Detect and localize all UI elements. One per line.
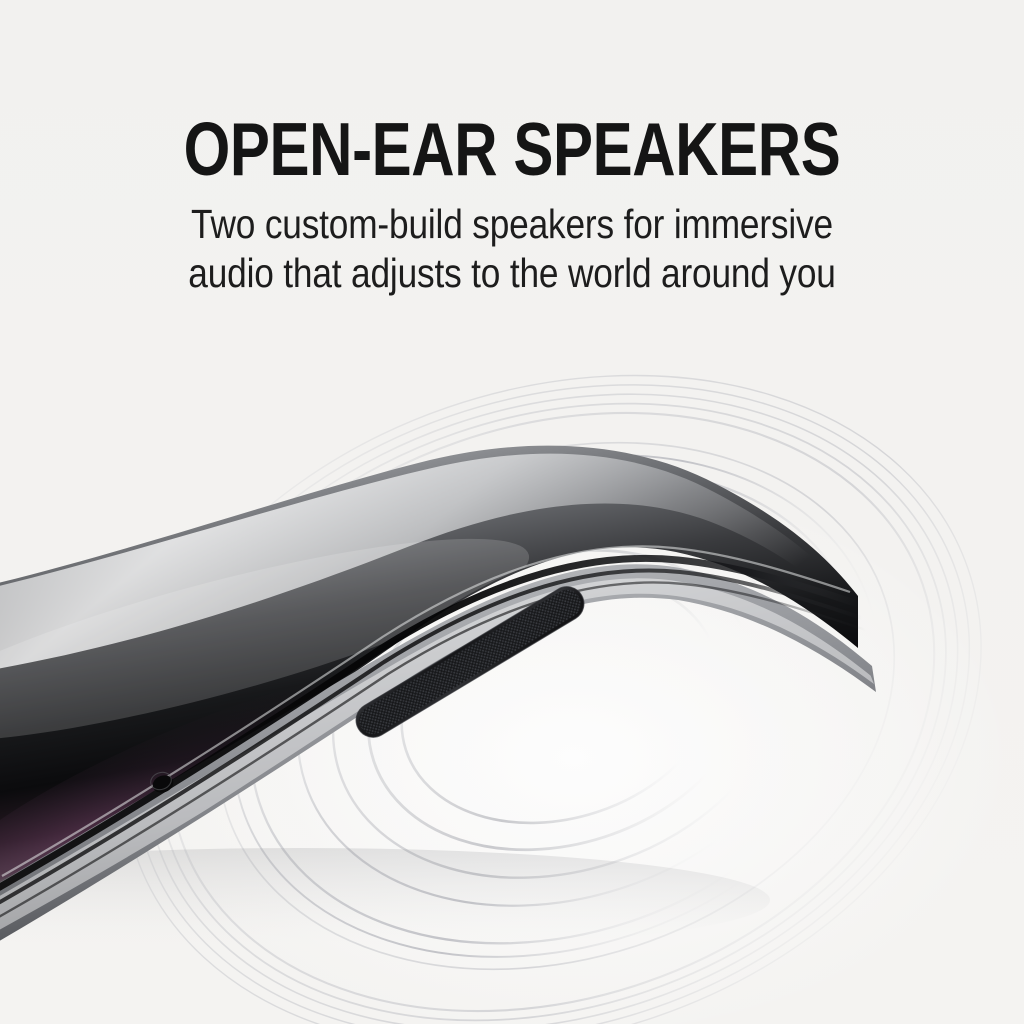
microphone-port <box>148 770 175 796</box>
subtitle-line-1: Two custom-build speakers for immersive <box>72 200 953 249</box>
speaker-grille <box>350 580 590 743</box>
body-sheen <box>0 500 543 779</box>
subtitle-line-2: audio that adjusts to the world around y… <box>72 249 953 298</box>
neckband-lower-flange <box>0 564 876 964</box>
headline-block: OPEN-EAR SPEAKERS Two custom-build speak… <box>0 112 1024 298</box>
page-title: OPEN-EAR SPEAKERS <box>102 112 921 186</box>
body-edge-lines <box>0 558 866 946</box>
inner-wave-group <box>244 429 876 971</box>
subtitle: Two custom-build speakers for immersive … <box>72 200 953 298</box>
underside-bloom <box>0 613 514 968</box>
product-feature-card: OPEN-EAR SPEAKERS Two custom-build speak… <box>0 0 1024 1024</box>
rim-catchlight <box>2 546 850 876</box>
product-shadow <box>0 848 770 952</box>
top-specular-ridge <box>0 454 854 678</box>
neckband-body <box>0 446 858 968</box>
outer-wave-group <box>31 264 1024 1024</box>
middle-wave-group <box>149 358 963 1024</box>
